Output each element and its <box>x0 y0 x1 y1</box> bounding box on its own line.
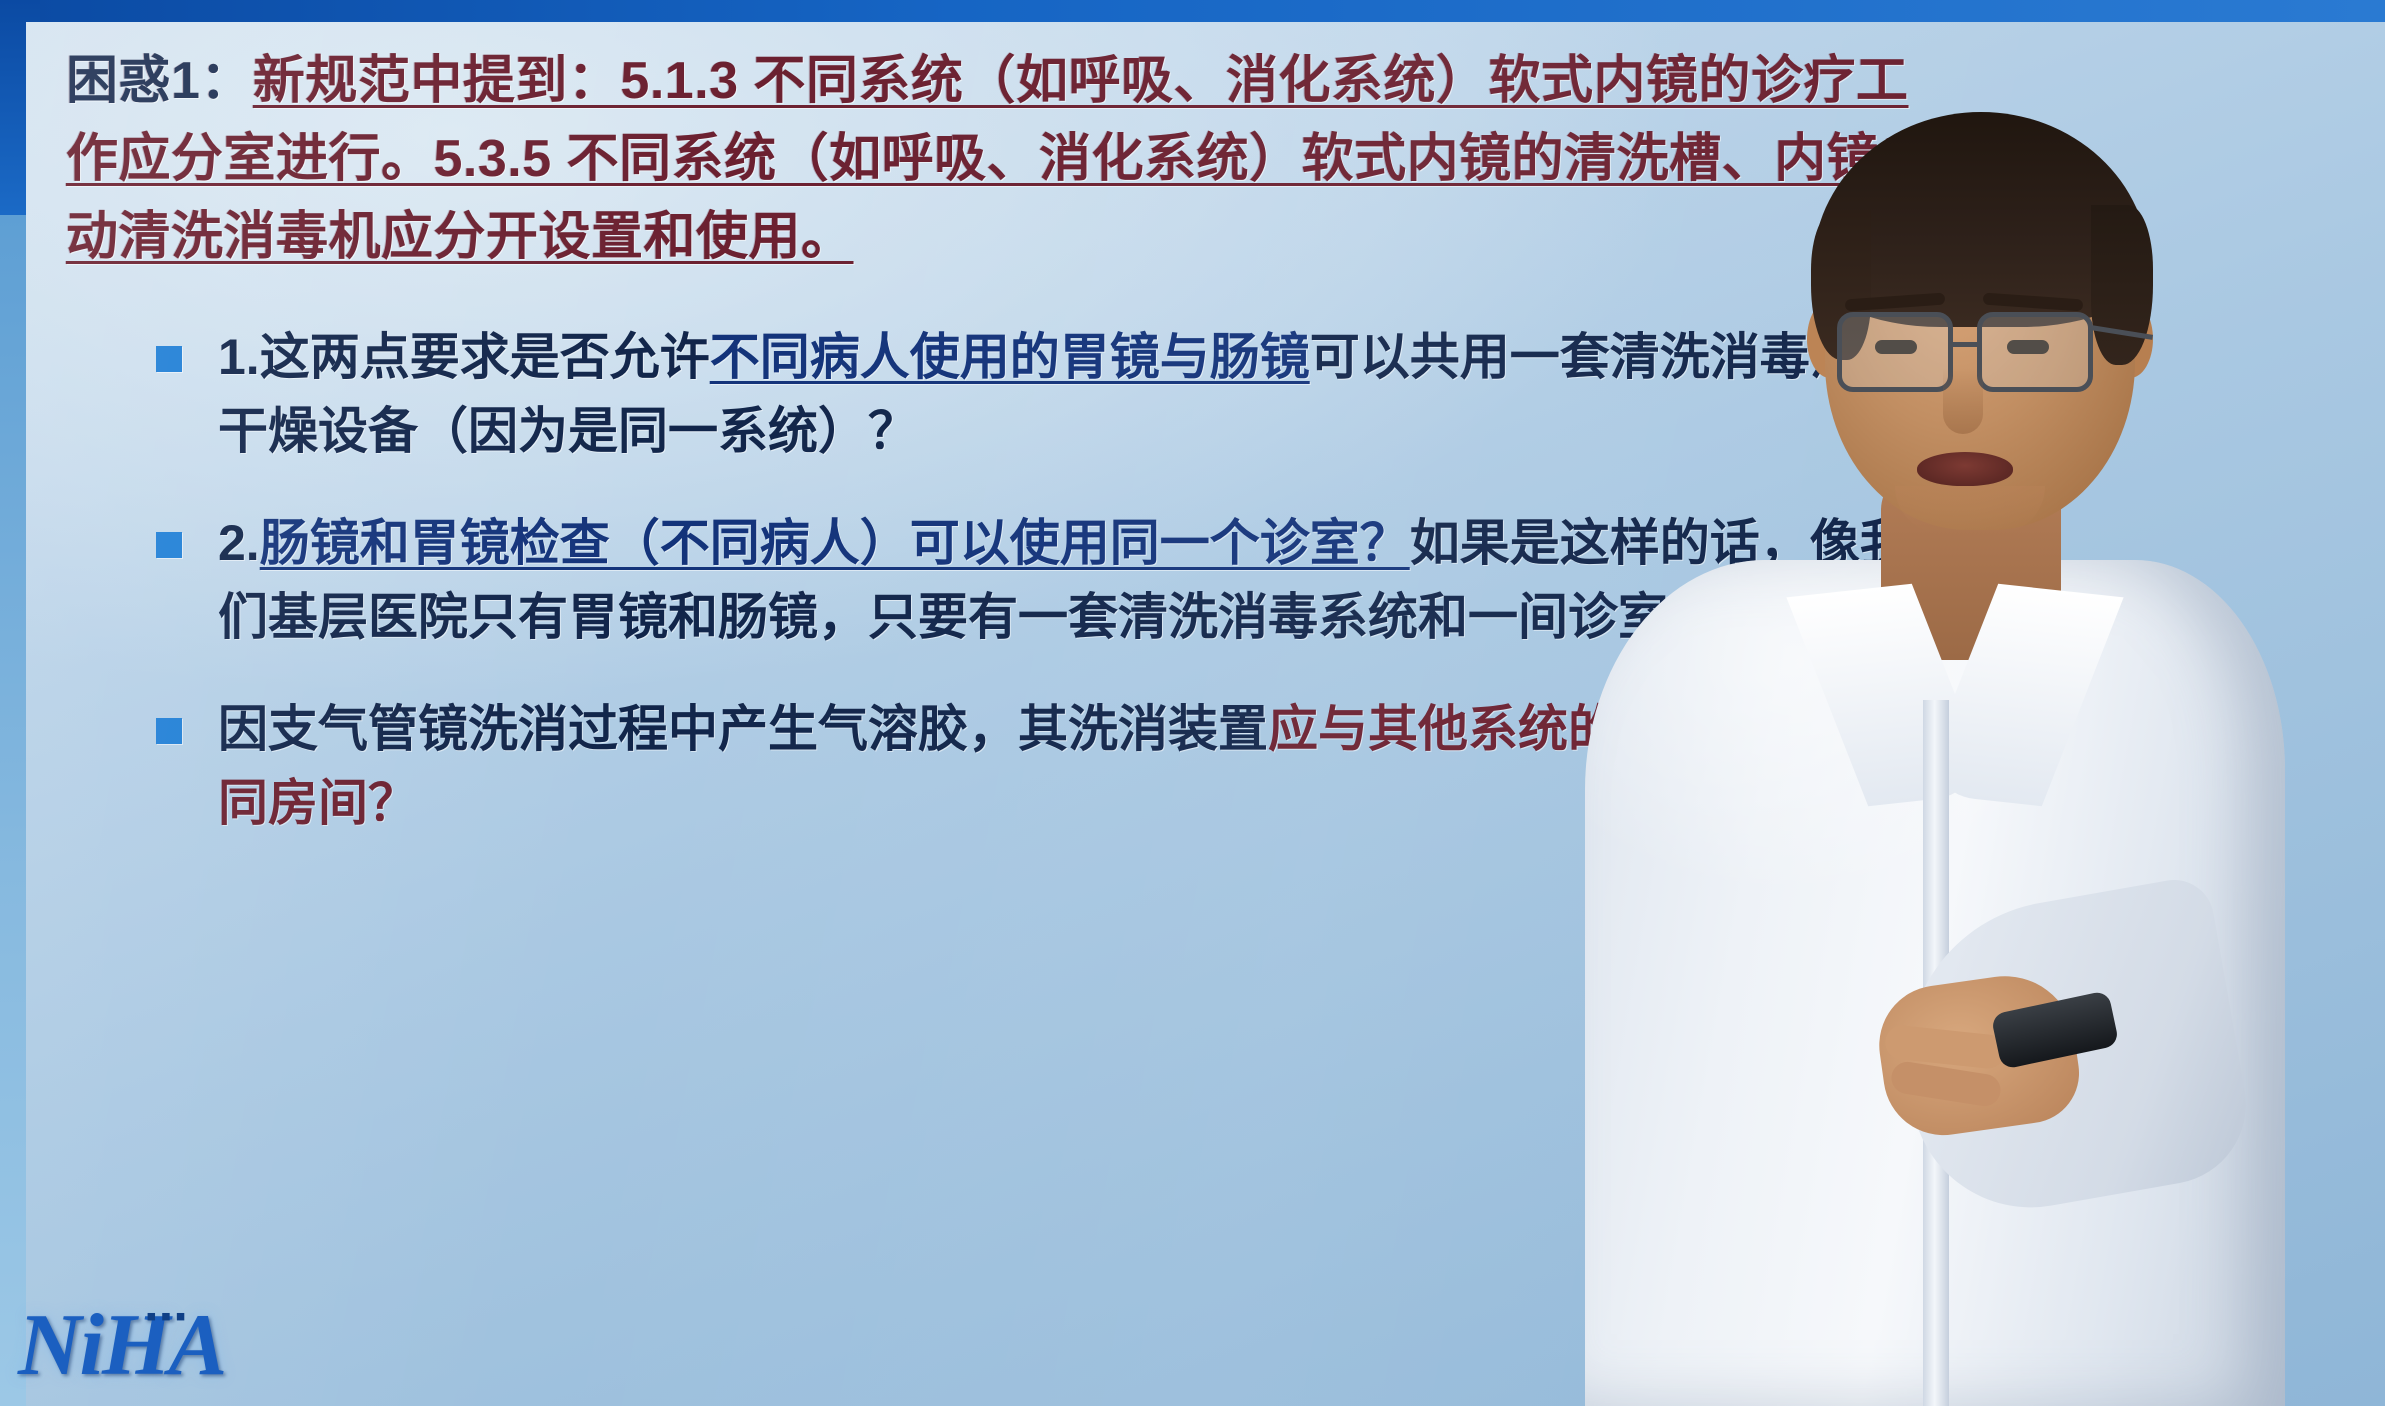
slide-title-body: 新规范中提到：5.1.3 不同系统（如呼吸、消化系统）软式内镜的诊疗工作应分室进… <box>66 52 1932 266</box>
list-item: 1.这两点要求是否允许不同病人使用的胃镜与肠镜可以共用一套清洗消毒池和干燥设备（… <box>156 320 1936 468</box>
frame-left-strip-lower <box>0 215 26 1406</box>
logo-wordmark: NiHA <box>18 1297 225 1394</box>
frame-top-strip <box>0 0 2385 22</box>
bullet-2-number: 2. <box>218 515 260 571</box>
logo-dots: ▪▪▪ <box>146 1300 190 1334</box>
bullet-3-lead: 因支气管镜洗消过程中产生气溶胶，其洗消装置 <box>218 701 1268 757</box>
slide-title-prefix: 困惑1： <box>66 52 253 110</box>
bullet-2-emphasis: 肠镜和胃镜检查（不同病人）可以使用同一个诊室？ <box>260 515 1410 571</box>
bullet-1-number: 1. <box>218 329 260 385</box>
presentation-slide: 困惑1：新规范中提到：5.1.3 不同系统（如呼吸、消化系统）软式内镜的诊疗工作… <box>26 22 2385 1406</box>
niha-logo: ▪▪▪ NiHA <box>18 1294 308 1404</box>
list-item: 因支气管镜洗消过程中产生气溶胶，其洗消装置应与其他系统的内镜设置在不同房间？ <box>156 692 1936 840</box>
slide-bullet-list: 1.这两点要求是否允许不同病人使用的胃镜与肠镜可以共用一套清洗消毒池和干燥设备（… <box>156 320 1936 840</box>
bullet-1-lead: 这两点要求是否允许 <box>260 329 710 385</box>
slide-text-area: 困惑1：新规范中提到：5.1.3 不同系统（如呼吸、消化系统）软式内镜的诊疗工作… <box>66 42 1936 878</box>
video-frame: 困惑1：新规范中提到：5.1.3 不同系统（如呼吸、消化系统）软式内镜的诊疗工作… <box>0 0 2385 1406</box>
bullet-1-emphasis: 不同病人使用的胃镜与肠镜 <box>710 329 1310 385</box>
slide-title-paragraph: 困惑1：新规范中提到：5.1.3 不同系统（如呼吸、消化系统）软式内镜的诊疗工作… <box>66 42 1936 276</box>
list-item: 2.肠镜和胃镜检查（不同病人）可以使用同一个诊室？如果是这样的话，像我们基层医院… <box>156 506 1936 654</box>
